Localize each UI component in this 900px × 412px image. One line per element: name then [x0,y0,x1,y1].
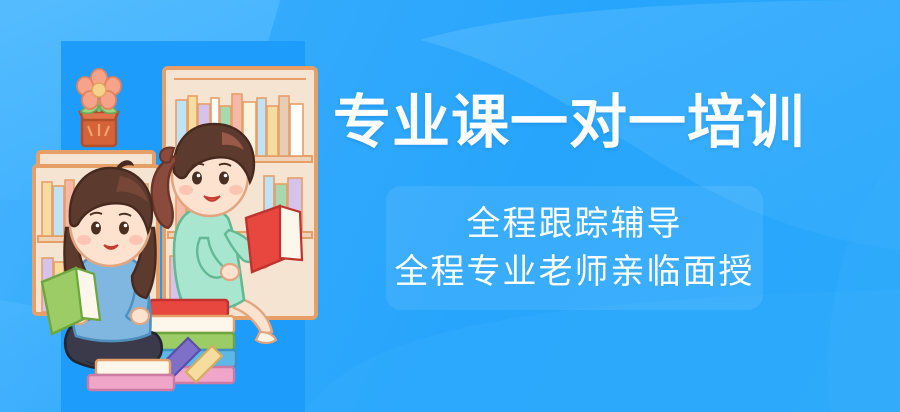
page-title: 专业课一对一培训 [333,92,803,154]
flower-pot-icon [77,69,121,146]
illustration-two-girls-reading [24,60,324,400]
subtitle-box: 全程跟踪辅导 全程专业老师亲临面授 [386,186,763,310]
promo-banner: 专业课一对一培训 全程跟踪辅导 全程专业老师亲临面授 [0,0,900,412]
subtitle-line-2: 全程专业老师亲临面授 [395,252,755,292]
floor-books [88,360,174,390]
subtitle-line-1: 全程跟踪辅导 [467,204,683,244]
